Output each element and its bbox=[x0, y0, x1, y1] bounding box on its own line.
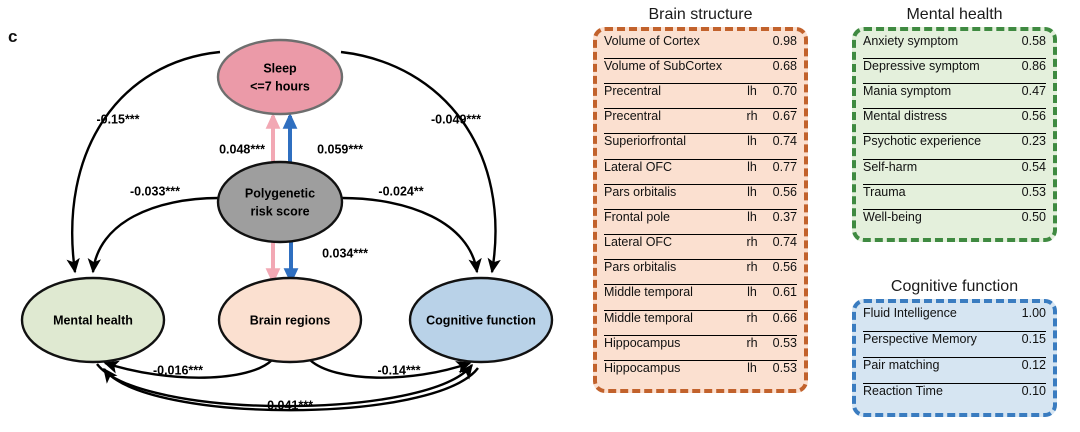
edge-prs-to-cognitive bbox=[342, 198, 477, 272]
table-row: Anxiety symptom0.58 bbox=[863, 34, 1046, 59]
row-value: 0.61 bbox=[763, 285, 797, 299]
row-name: Volume of SubCortex bbox=[604, 59, 741, 73]
row-name: Pars orbitalis bbox=[604, 260, 741, 274]
figure-panel-c: c bbox=[0, 0, 1080, 432]
row-value: 0.37 bbox=[763, 210, 797, 224]
row-name: Precentral bbox=[604, 109, 741, 123]
edge-label-prs-to-sleep-blue: 0.059*** bbox=[317, 142, 363, 156]
table-row: Pair matching0.12 bbox=[863, 358, 1046, 384]
edge-label-prs-to-mental: -0.033*** bbox=[130, 184, 180, 198]
row-name: Hippocampus bbox=[604, 361, 741, 375]
row-value: 0.86 bbox=[1012, 59, 1046, 73]
node-mental-health[interactable]: Mental health bbox=[22, 278, 164, 362]
brain-structure-title: Brain structure bbox=[593, 6, 808, 24]
table-row: Mental distress0.56 bbox=[863, 109, 1046, 134]
edge-sleep-to-cognitive bbox=[341, 52, 495, 272]
row-value: 1.00 bbox=[1012, 306, 1046, 320]
row-hemisphere: rh bbox=[741, 260, 763, 274]
table-row: Trauma0.53 bbox=[863, 185, 1046, 210]
row-name: Depressive symptom bbox=[863, 59, 990, 73]
table-row: Hippocampusrh0.53 bbox=[604, 336, 797, 361]
edge-label-brain-to-cognitive: -0.14*** bbox=[377, 363, 420, 377]
row-hemisphere: lh bbox=[741, 160, 763, 174]
table-row: Fluid Intelligence1.00 bbox=[863, 306, 1046, 332]
row-hemisphere: rh bbox=[741, 235, 763, 249]
row-hemisphere: lh bbox=[741, 185, 763, 199]
edge-sleep-to-mental bbox=[72, 52, 220, 272]
brain-structure-rows: Volume of Cortex0.98Volume of SubCortex0… bbox=[593, 27, 808, 394]
row-value: 0.15 bbox=[1012, 332, 1046, 346]
row-value: 0.68 bbox=[763, 59, 797, 73]
table-row: Psychotic experience0.23 bbox=[863, 134, 1046, 159]
node-cognitive-function[interactable]: Cognitive function bbox=[410, 278, 552, 362]
table-row: Hippocampuslh0.53 bbox=[604, 361, 797, 386]
row-value: 0.66 bbox=[763, 311, 797, 325]
row-hemisphere: lh bbox=[741, 361, 763, 375]
node-sleep-label-line2: <=7 hours bbox=[250, 79, 310, 93]
table-row: Lateral OFCrh0.74 bbox=[604, 235, 797, 260]
path-diagram: Sleep <=7 hours Polygenetic risk score M… bbox=[0, 0, 580, 432]
table-row: Pars orbitalislh0.56 bbox=[604, 185, 797, 210]
row-name: Superiorfrontal bbox=[604, 134, 741, 148]
row-value: 0.23 bbox=[1012, 134, 1046, 148]
row-name: Mental distress bbox=[863, 109, 990, 123]
node-brain-regions-label: Brain regions bbox=[250, 313, 331, 327]
row-value: 0.47 bbox=[1012, 84, 1046, 98]
edge-label-sleep-to-mental: -0.15*** bbox=[96, 112, 139, 126]
row-name: Frontal pole bbox=[604, 210, 741, 224]
row-value: 0.56 bbox=[1012, 109, 1046, 123]
row-value: 0.58 bbox=[1012, 34, 1046, 48]
row-name: Self-harm bbox=[863, 160, 990, 174]
edge-label-prs-to-brain-blue: 0.034*** bbox=[322, 246, 368, 260]
row-value: 0.10 bbox=[1012, 384, 1046, 398]
table-row: Middle temporalrh0.66 bbox=[604, 311, 797, 336]
row-value: 0.77 bbox=[763, 160, 797, 174]
table-row: Depressive symptom0.86 bbox=[863, 59, 1046, 84]
brain-structure-table: Brain structure Volume of Cortex0.98Volu… bbox=[593, 6, 808, 393]
row-name: Middle temporal bbox=[604, 311, 741, 325]
edge-label-prs-to-cognitive: -0.024** bbox=[378, 184, 423, 198]
edge-label-prs-to-sleep-pink: 0.048*** bbox=[219, 142, 265, 156]
edge-label-mental-to-cognitive: 0.041*** bbox=[267, 398, 313, 412]
mental-health-table: Mental health Anxiety symptom0.58Depress… bbox=[852, 6, 1057, 242]
row-value: 0.12 bbox=[1012, 358, 1046, 372]
edge-label-sleep-to-cognitive: -0.049*** bbox=[431, 112, 481, 126]
row-hemisphere: lh bbox=[741, 134, 763, 148]
row-value: 0.53 bbox=[1012, 185, 1046, 199]
row-name: Middle temporal bbox=[604, 285, 741, 299]
table-row: Mania symptom0.47 bbox=[863, 84, 1046, 109]
table-row: Reaction Time0.10 bbox=[863, 384, 1046, 410]
mental-health-title: Mental health bbox=[852, 6, 1057, 24]
row-hemisphere: rh bbox=[741, 311, 763, 325]
row-value: 0.54 bbox=[1012, 160, 1046, 174]
row-name: Psychotic experience bbox=[863, 134, 990, 148]
edge-label-brain-to-mental: -0.016*** bbox=[153, 363, 203, 377]
row-value: 0.74 bbox=[763, 235, 797, 249]
row-name: Perspective Memory bbox=[863, 332, 990, 346]
node-cognitive-function-label: Cognitive function bbox=[426, 313, 536, 327]
table-row: Middle temporallh0.61 bbox=[604, 285, 797, 310]
row-name: Lateral OFC bbox=[604, 160, 741, 174]
row-hemisphere: rh bbox=[741, 336, 763, 350]
node-mental-health-label: Mental health bbox=[53, 313, 133, 327]
row-hemisphere: rh bbox=[741, 109, 763, 123]
row-value: 0.74 bbox=[763, 134, 797, 148]
row-name: Pair matching bbox=[863, 358, 990, 372]
table-row: Well-being0.50 bbox=[863, 210, 1046, 235]
row-hemisphere: lh bbox=[741, 84, 763, 98]
table-row: Volume of Cortex0.98 bbox=[604, 34, 797, 59]
edge-prs-to-mental bbox=[93, 198, 219, 272]
row-value: 0.70 bbox=[763, 84, 797, 98]
row-name: Pars orbitalis bbox=[604, 185, 741, 199]
node-prs-label-line2: risk score bbox=[250, 204, 309, 218]
row-name: Trauma bbox=[863, 185, 990, 199]
row-name: Mania symptom bbox=[863, 84, 990, 98]
table-row: Frontal polelh0.37 bbox=[604, 210, 797, 235]
row-value: 0.56 bbox=[763, 185, 797, 199]
cognitive-function-rows: Fluid Intelligence1.00Perspective Memory… bbox=[852, 299, 1057, 417]
node-sleep-label-line1: Sleep bbox=[263, 61, 297, 75]
row-value: 0.67 bbox=[763, 109, 797, 123]
row-name: Fluid Intelligence bbox=[863, 306, 990, 320]
cognitive-function-table: Cognitive function Fluid Intelligence1.0… bbox=[852, 278, 1057, 417]
row-name: Well-being bbox=[863, 210, 990, 224]
table-row: Perspective Memory0.15 bbox=[863, 332, 1046, 358]
table-row: Precentrallh0.70 bbox=[604, 84, 797, 109]
row-name: Hippocampus bbox=[604, 336, 741, 350]
node-brain-regions[interactable]: Brain regions bbox=[219, 278, 361, 362]
node-sleep[interactable]: Sleep <=7 hours bbox=[218, 40, 342, 114]
row-value: 0.56 bbox=[763, 260, 797, 274]
row-hemisphere: lh bbox=[741, 210, 763, 224]
node-prs-label-line1: Polygenetic bbox=[245, 186, 315, 200]
row-name: Anxiety symptom bbox=[863, 34, 990, 48]
table-row: Self-harm0.54 bbox=[863, 160, 1046, 185]
mental-health-rows: Anxiety symptom0.58Depressive symptom0.8… bbox=[852, 27, 1057, 243]
row-name: Volume of Cortex bbox=[604, 34, 741, 48]
table-row: Superiorfrontallh0.74 bbox=[604, 134, 797, 159]
row-name: Reaction Time bbox=[863, 384, 990, 398]
row-name: Lateral OFC bbox=[604, 235, 741, 249]
table-row: Precentralrh0.67 bbox=[604, 109, 797, 134]
row-value: 0.53 bbox=[763, 361, 797, 375]
node-polygenetic-risk-score[interactable]: Polygenetic risk score bbox=[218, 162, 342, 242]
table-row: Volume of SubCortex0.68 bbox=[604, 59, 797, 84]
row-hemisphere: lh bbox=[741, 285, 763, 299]
row-value: 0.53 bbox=[763, 336, 797, 350]
cognitive-function-title: Cognitive function bbox=[852, 278, 1057, 296]
row-value: 0.50 bbox=[1012, 210, 1046, 224]
row-value: 0.98 bbox=[763, 34, 797, 48]
table-row: Pars orbitalisrh0.56 bbox=[604, 260, 797, 285]
table-row: Lateral OFClh0.77 bbox=[604, 160, 797, 185]
row-name: Precentral bbox=[604, 84, 741, 98]
